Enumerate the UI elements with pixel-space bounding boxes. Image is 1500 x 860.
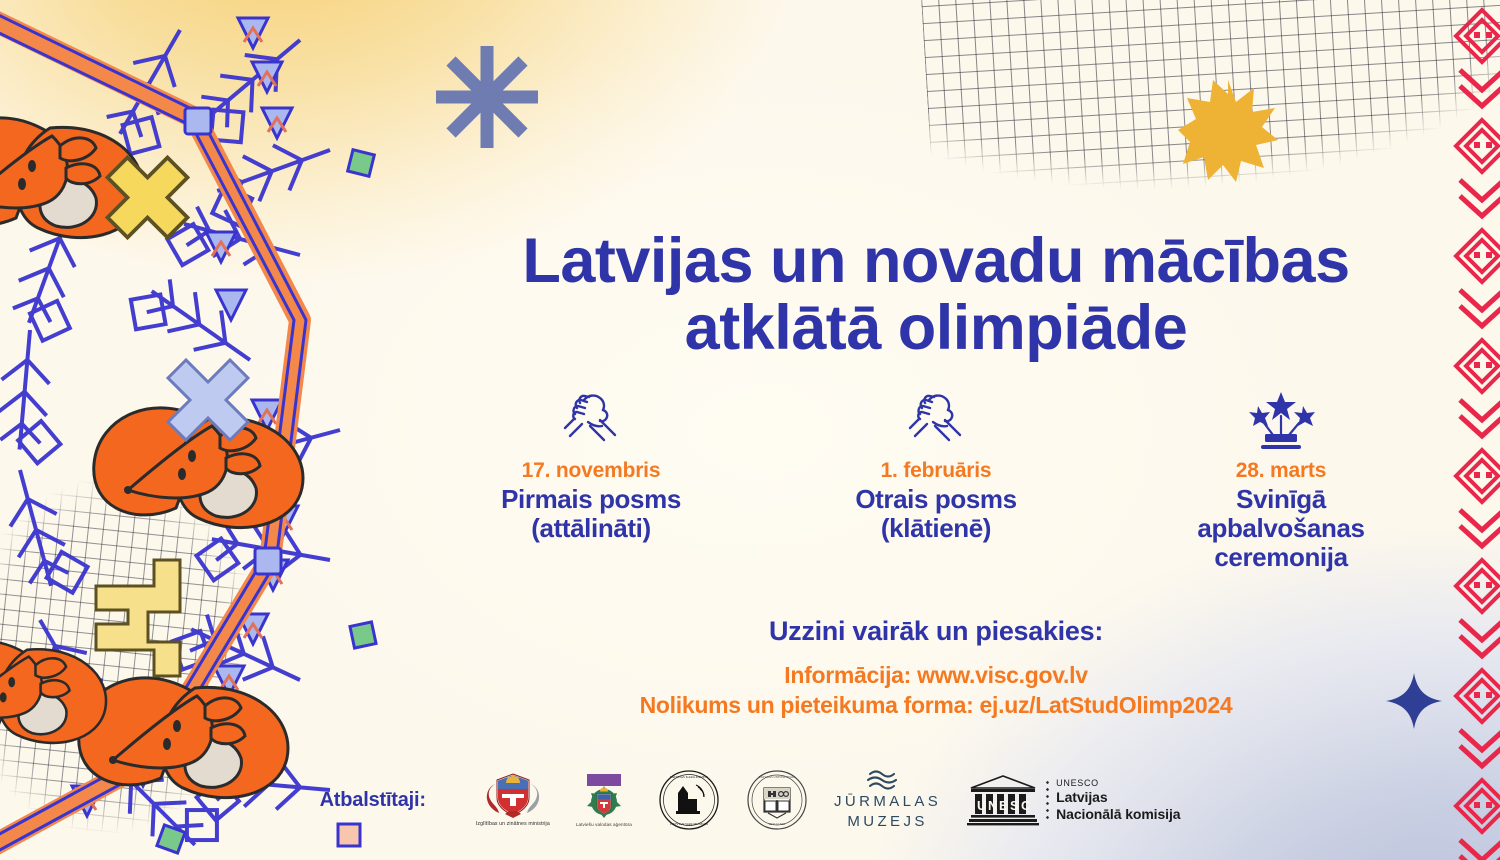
stage-name: Pirmais posms (attālināti)	[459, 485, 724, 543]
poster-canvas: Latvijas un novadu mācības atklātā olimp…	[0, 0, 1500, 860]
lva-logo: Latviešu valodas aģentūra	[576, 773, 632, 828]
stage-date: 1. februāris	[804, 459, 1069, 483]
supporters-label: Atbalstītaji:	[320, 789, 426, 812]
svg-text:LATVIJAS KARA MUZEJS: LATVIJAS KARA MUZEJS	[670, 775, 708, 779]
stage-name: Svinīgā apbalvošanas ceremonija	[1149, 485, 1414, 572]
jurmalas-muzejs-logo: JŪRMALAS MUZEJS	[834, 768, 941, 833]
unesco-line-1: Latvijas	[1056, 789, 1180, 806]
poster-content: Latvijas un novadu mācības atklātā olimp…	[430, 0, 1442, 860]
svg-text:MDCCCXIX: MDCCCXIX	[769, 822, 786, 826]
izm-logo-caption: Izglītības un zinātnes ministrija	[476, 821, 550, 828]
stage-name-line-1: Otrais posms	[855, 484, 1016, 514]
stage-name-line-1: Svinīgā	[1236, 484, 1326, 514]
title-line-1: Latvijas un novadu mācības	[522, 226, 1349, 296]
supporters-row: Atbalstītaji: Izglītības un zinātnes min…	[0, 768, 1500, 833]
stage-date: 28. marts	[1149, 459, 1414, 483]
svg-text:N: N	[988, 798, 997, 813]
title-line-2: atklātā olimpiāde	[685, 293, 1188, 363]
svg-text:C: C	[1021, 798, 1031, 813]
svg-text:E: E	[999, 798, 1008, 813]
lva-logo-caption: Latviešu valodas aģentūra	[576, 822, 632, 828]
stage-item: 17. novembris Pirmais posms (attālināti)	[459, 389, 724, 543]
stage-item: 28. marts Svinīgā apbalvošanas ceremonij…	[1149, 389, 1414, 572]
arm-wrestle-icon	[804, 389, 1069, 451]
form-link[interactable]: Nolikums un pieteikuma forma: ej.uz/LatS…	[640, 691, 1233, 721]
stage-name-line-1: Pirmais posms	[501, 484, 681, 514]
stage-list: 17. novembris Pirmais posms (attālināti)	[431, 389, 1441, 572]
kara-muzejs-logo: LATVIJAS KARA MUZEJS LATVIAN WAR MUSEUM	[658, 769, 720, 831]
stage-name-line-2: (attālināti)	[531, 513, 650, 543]
link-block: Informācija: www.visc.gov.lv Nolikums un…	[640, 661, 1233, 721]
svg-text:LATVIJAS UNIVERSITATE: LATVIJAS UNIVERSITATE	[759, 775, 796, 779]
stage-date: 17. novembris	[459, 459, 724, 483]
stage-name-line-3: ceremonija	[1214, 542, 1347, 572]
unesco-logo: UNE SC UNESCO Latvijas Nacionālā komisij…	[967, 774, 1180, 826]
jurmalas-line-2: MUZEJS	[834, 812, 941, 832]
unesco-temple-icon: UNE SC	[967, 774, 1039, 826]
svg-text:U: U	[977, 798, 986, 813]
award-podium-stars-icon	[1149, 389, 1414, 451]
stage-name-line-2: apbalvošanas	[1197, 513, 1364, 543]
info-link[interactable]: Informācija: www.visc.gov.lv	[640, 661, 1233, 691]
unesco-label: UNESCO	[1056, 778, 1180, 789]
izm-logo: Izglītības un zinātnes ministrija	[476, 772, 550, 828]
call-to-action: Uzzini vairāk un piesakies:	[769, 616, 1103, 647]
unesco-line-2: Nacionālā komisija	[1056, 806, 1180, 823]
jurmalas-line-1: JŪRMALAS	[834, 792, 941, 812]
unesco-divider-dots	[1046, 779, 1049, 821]
lu-logo: LATVIJAS UNIVERSITATE MDCCCXIX	[746, 769, 808, 831]
unesco-text: UNESCO Latvijas Nacionālā komisija	[1056, 778, 1180, 822]
fox-snowflake-folk-illustration	[0, 0, 430, 860]
stage-name: Otrais posms (klātienē)	[804, 485, 1069, 543]
svg-text:LATVIAN WAR MUSEUM: LATVIAN WAR MUSEUM	[670, 822, 708, 826]
jurmalas-muzejs-text: JŪRMALAS MUZEJS	[834, 792, 941, 833]
stage-item: 1. februāris Otrais posms (klātienē)	[804, 389, 1069, 543]
svg-text:S: S	[1010, 798, 1019, 813]
stage-name-line-2: (klātienē)	[881, 513, 991, 543]
page-title: Latvijas un novadu mācības atklātā olimp…	[431, 228, 1441, 363]
arm-wrestle-icon	[459, 389, 724, 451]
